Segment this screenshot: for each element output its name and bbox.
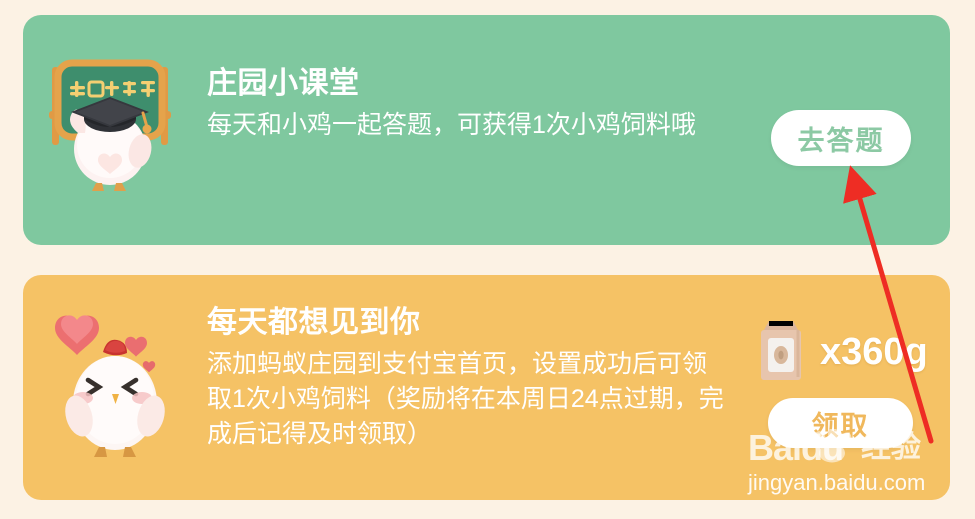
feed-bag-icon [752,316,810,389]
daily-card-title: 每天都想见到你 [207,305,727,341]
screen: 庄园小课堂 每天和小鸡一起答题，可获得1次小鸡饲料哦 去答题 [0,0,975,519]
daily-text-column: 每天都想见到你 添加蚂蚁庄园到支付宝首页，设置成功后可领取1次小鸡饲料（奖励将在… [207,305,727,452]
happy-chick-with-hearts-icon [35,290,195,465]
reward-amount-label: x360g [820,331,928,374]
go-answer-button[interactable]: 去答题 [771,110,911,166]
reward-block: x360g [752,318,942,386]
lesson-card-description: 每天和小鸡一起答题，可获得1次小鸡饲料哦 [207,108,727,143]
chick-with-graduation-cap-and-blackboard-icon [30,45,190,195]
lesson-card-title: 庄园小课堂 [207,66,727,102]
claim-reward-button[interactable]: 领取 [768,398,913,448]
daily-card-description: 添加蚂蚁庄园到支付宝首页，设置成功后可领取1次小鸡饲料（奖励将在本周日24点过期… [207,347,727,452]
lesson-text-column: 庄园小课堂 每天和小鸡一起答题，可获得1次小鸡饲料哦 [207,66,727,143]
